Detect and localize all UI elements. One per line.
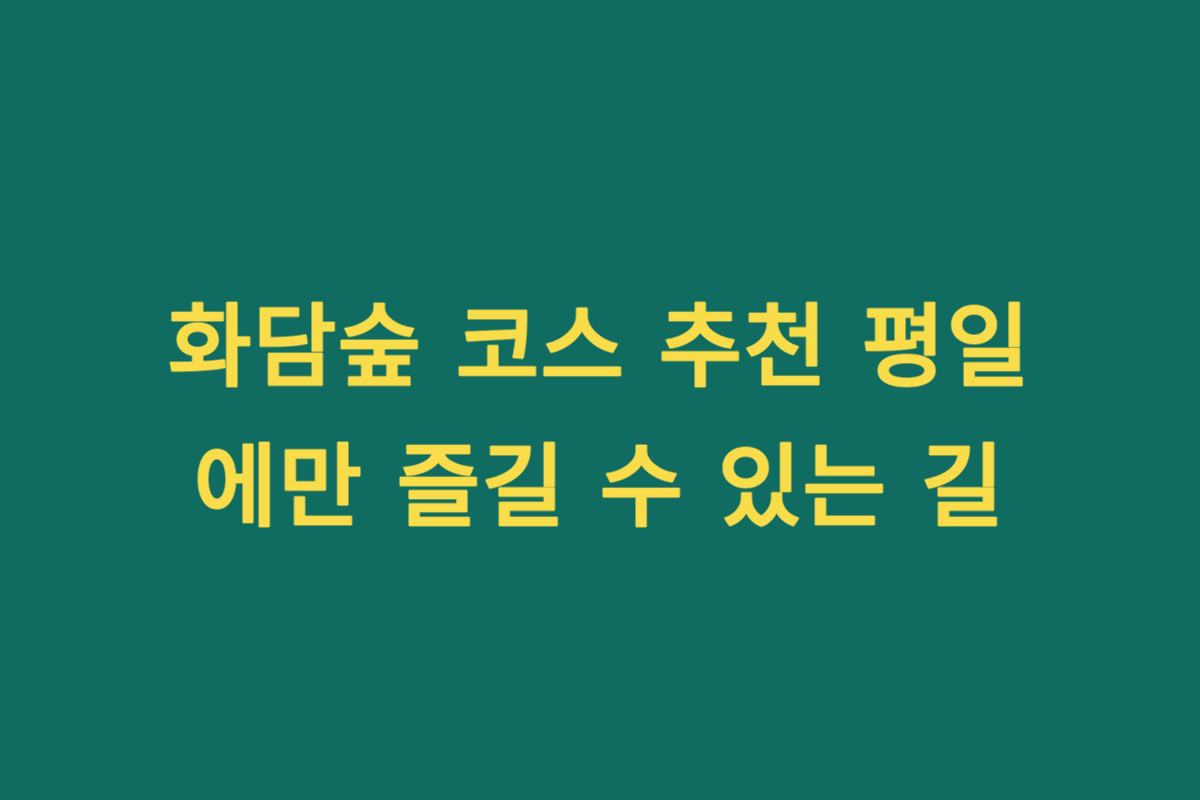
banner-title-line-2: 에만 즐길 수 있는 길 (40, 418, 1160, 558)
banner-title-block: 화담숲 코스 추천 평일 에만 즐길 수 있는 길 (0, 278, 1200, 558)
text-banner: 화담숲 코스 추천 평일 에만 즐길 수 있는 길 (0, 0, 1200, 800)
banner-title-line-1: 화담숲 코스 추천 평일 (40, 278, 1160, 418)
